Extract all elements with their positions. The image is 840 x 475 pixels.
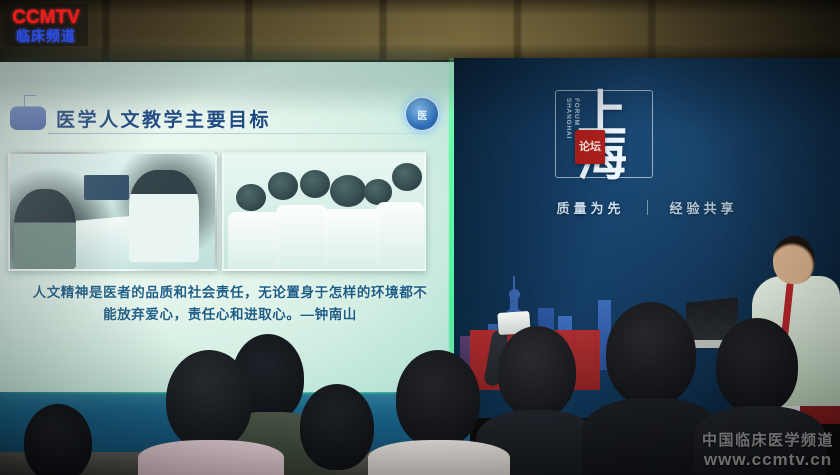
photo-person-head bbox=[364, 179, 392, 204]
photo-person-head bbox=[236, 184, 266, 212]
photo-person-head bbox=[268, 172, 298, 200]
title-bullet-icon bbox=[10, 106, 46, 130]
channel-logo-sub: 临床频道 bbox=[16, 29, 76, 43]
logo-vertical-text-2: FORUM bbox=[569, 98, 581, 166]
slide-photo-consultation bbox=[8, 152, 217, 271]
page-title: 医学人文教学主要目标 bbox=[56, 105, 271, 132]
shanghai-forum-logo: SHANGHAI 上海 论坛 FORUM bbox=[547, 86, 665, 182]
tagline-divider bbox=[647, 200, 648, 215]
title-underline bbox=[48, 133, 434, 134]
channel-logo: CCMTV 临床频道 bbox=[4, 4, 88, 46]
slide-photo-medical-team bbox=[222, 152, 426, 271]
video-frame: 医学人文教学主要目标 医 人文精神是医者的品质和社会责任，无论置身于怎样的环境都… bbox=[0, 0, 840, 475]
photo-monitor bbox=[84, 175, 129, 200]
photo-doctor bbox=[129, 170, 199, 262]
slide-title-row: 医学人文教学主要目标 bbox=[10, 98, 430, 138]
slide-quote: 人文精神是医者的品质和社会责任，无论置身于怎样的环境都不能放弃爱心，责任心和进取… bbox=[30, 282, 430, 327]
photo-patient bbox=[14, 189, 76, 270]
photo-white-coat bbox=[228, 212, 280, 270]
tagline-left: 质量为先 bbox=[556, 198, 624, 217]
emblem-label: 医 bbox=[417, 107, 427, 122]
photo-white-coat bbox=[376, 202, 424, 269]
tagline-right: 经验共享 bbox=[670, 198, 738, 217]
banner-tagline: 质量为先 经验共享 bbox=[454, 198, 840, 217]
channel-logo-main: CCMTV bbox=[12, 8, 80, 27]
photo-white-coat bbox=[324, 209, 380, 269]
wood-paneled-wall bbox=[0, 0, 840, 60]
photo-white-coat bbox=[276, 205, 328, 269]
pearl-tower-spire bbox=[513, 276, 515, 292]
institution-emblem-icon: 医 bbox=[404, 96, 440, 132]
photo-person-head bbox=[392, 163, 422, 191]
speaker-head bbox=[773, 236, 815, 284]
photo-person-head bbox=[330, 175, 366, 207]
photo-person-head bbox=[300, 170, 330, 198]
